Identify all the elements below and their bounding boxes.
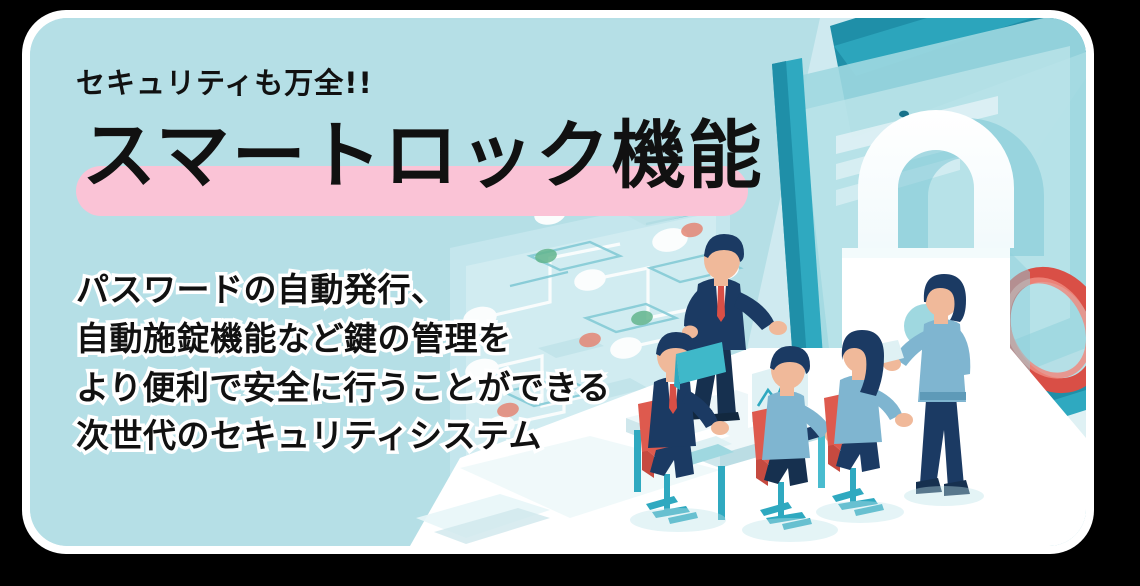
- banner-root: セキュリティも万全!! スマートロック機能 パスワードの自動発行、 自動施錠機能…: [0, 0, 1140, 586]
- promo-card: セキュリティも万全!! スマートロック機能 パスワードの自動発行、 自動施錠機能…: [30, 18, 1086, 546]
- illustration: [30, 18, 1086, 546]
